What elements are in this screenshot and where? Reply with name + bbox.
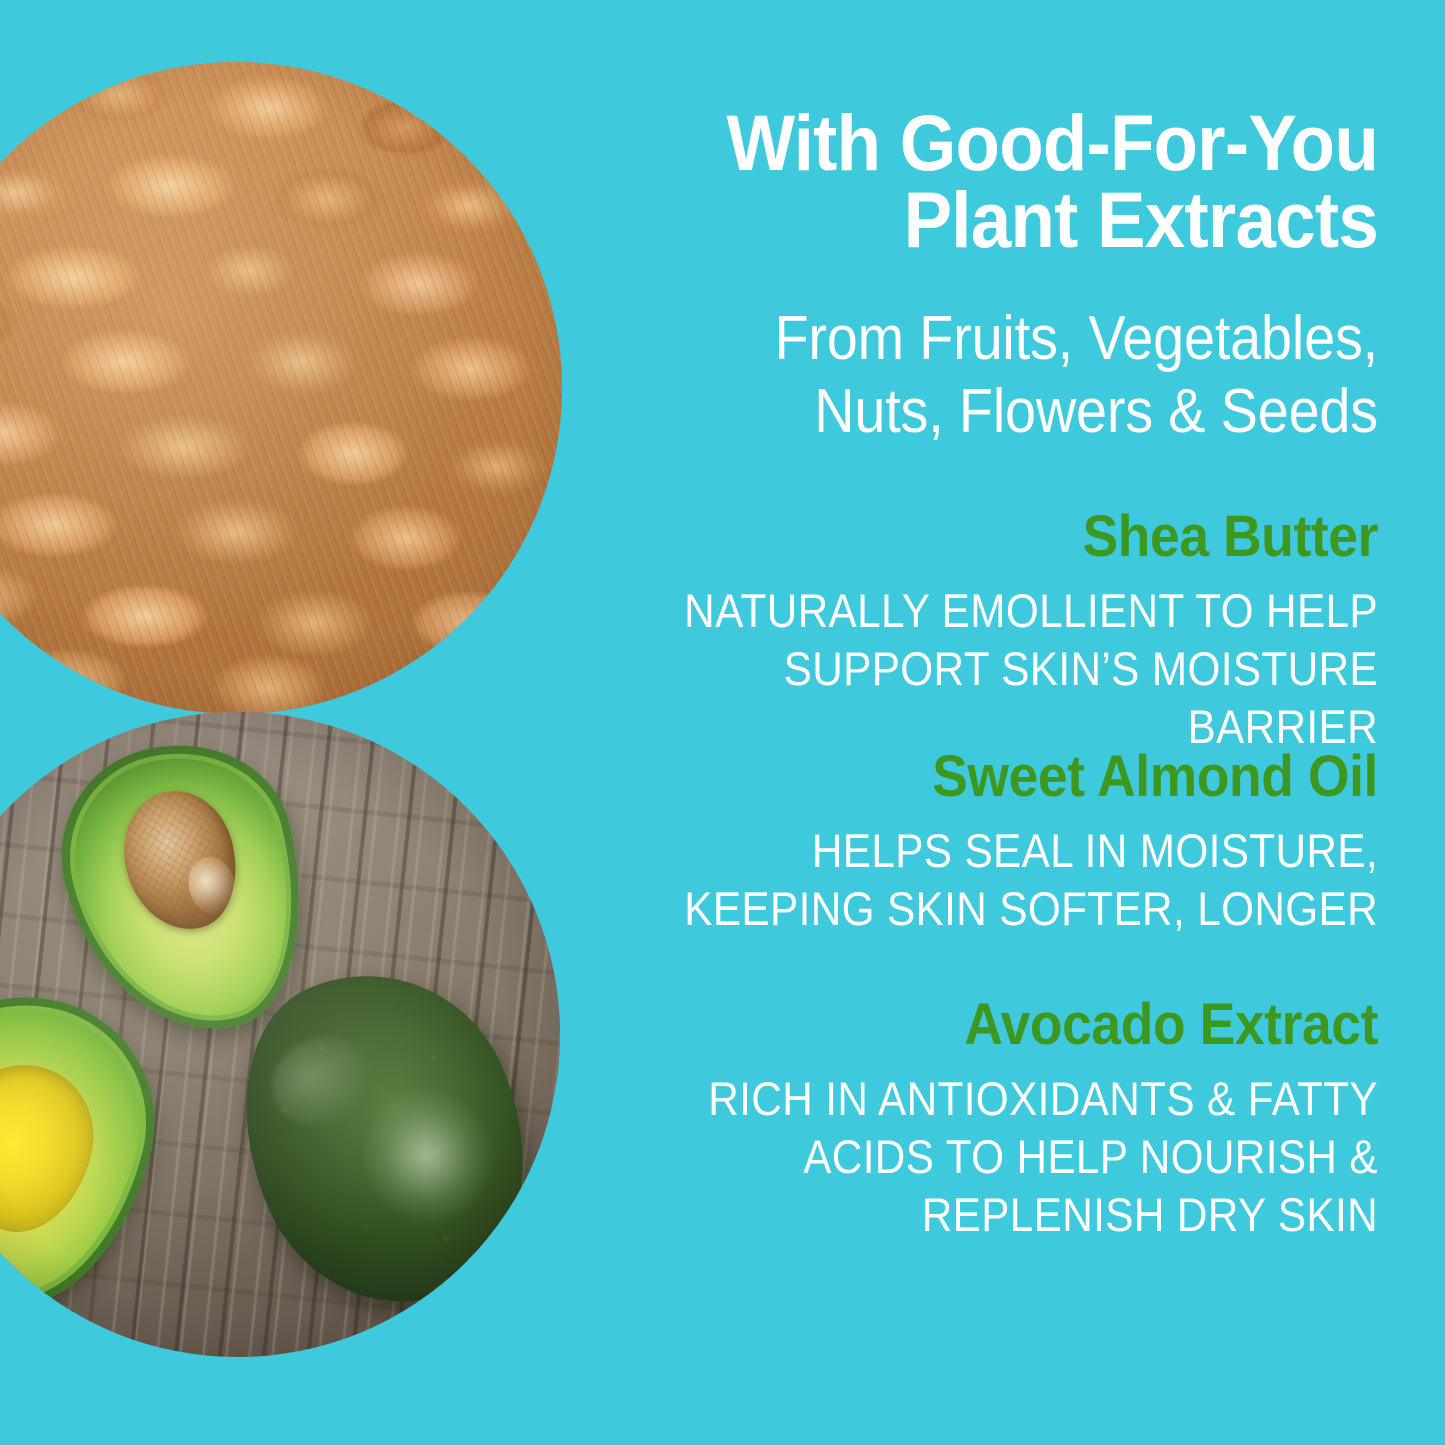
ingredient-name: Sweet Almond Oil xyxy=(607,748,1378,806)
ingredient-description: RICH IN ANTIOXIDANTS & FATTY ACIDS TO HE… xyxy=(624,1070,1378,1243)
ingredient-description: NATURALLY EMOLLIENT TO HELP SUPPORT SKIN… xyxy=(624,582,1378,755)
avocados-photo-circle xyxy=(0,712,560,1357)
product-ingredient-poster: With Good-For-You Plant Extracts From Fr… xyxy=(0,0,1445,1445)
ingredient-block-shea-butter: Shea Butter NATURALLY EMOLLIENT TO HELP … xyxy=(540,508,1378,755)
ingredient-block-avocado-extract: Avocado Extract RICH IN ANTIOXIDANTS & F… xyxy=(540,996,1378,1243)
headline: With Good-For-You Plant Extracts xyxy=(607,104,1378,259)
ingredient-block-sweet-almond-oil: Sweet Almond Oil HELPS SEAL IN MOISTURE,… xyxy=(540,748,1378,938)
subheadline: From Fruits, Vegetables, Nuts, Flowers &… xyxy=(624,302,1378,448)
ingredient-name: Avocado Extract xyxy=(607,996,1378,1054)
almonds-photo-circle xyxy=(0,62,562,714)
marketing-text-column: With Good-For-You Plant Extracts From Fr… xyxy=(540,0,1378,1445)
ingredient-description: HELPS SEAL IN MOISTURE, KEEPING SKIN SOF… xyxy=(624,822,1378,938)
ingredient-name: Shea Butter xyxy=(607,508,1378,566)
almond-vignette-overlay xyxy=(0,62,562,714)
wood-vignette-overlay xyxy=(0,712,560,1357)
